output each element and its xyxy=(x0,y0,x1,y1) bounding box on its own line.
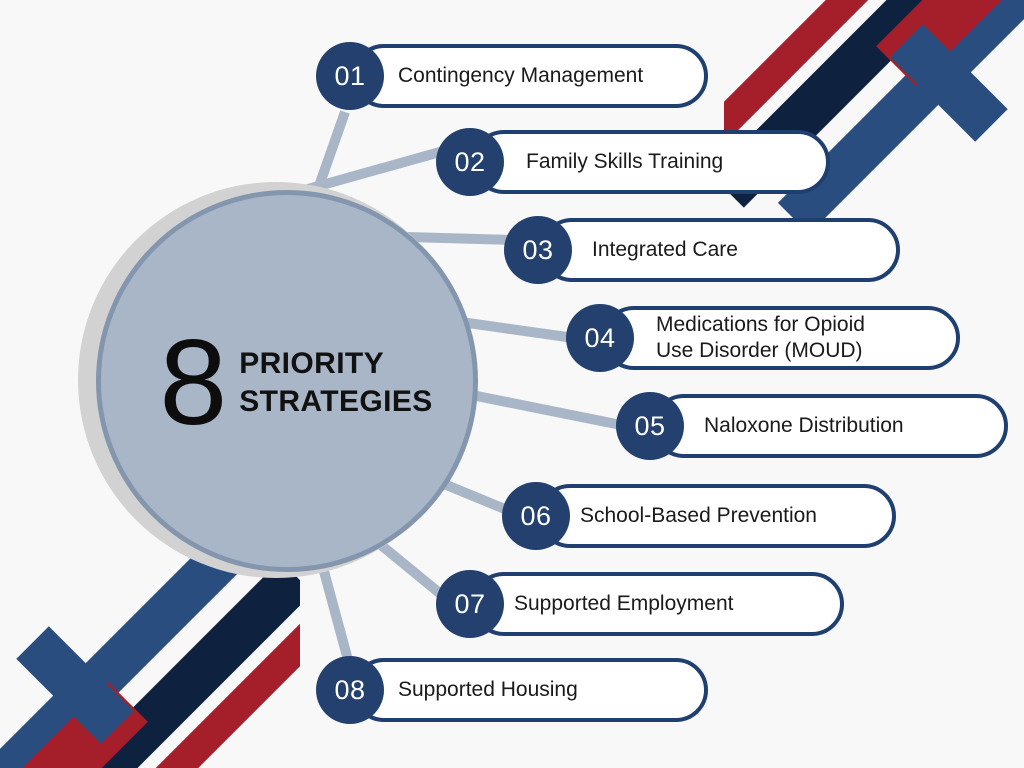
strategy-label-07: Supported Employment xyxy=(514,591,733,617)
decor-stripe-crimson-short xyxy=(876,0,1024,86)
decor-stripe-blue-mid-long xyxy=(778,0,1024,234)
strategy-label-05: Naloxone Distribution xyxy=(704,413,904,439)
decor-stripe-crimson-long xyxy=(75,566,300,768)
strategy-number-badge-04[interactable]: 04 xyxy=(566,304,634,372)
decor-stripe-blue-mid-block xyxy=(16,626,133,743)
hub-circle: 8 PRIORITY STRATEGIES xyxy=(96,190,478,572)
strategy-item-03[interactable]: Integrated Care03 xyxy=(504,216,900,284)
hub-title: PRIORITY STRATEGIES xyxy=(239,345,432,420)
strategy-item-02[interactable]: Family Skills Training02 xyxy=(436,128,830,196)
strategy-pill-02[interactable]: Family Skills Training xyxy=(472,130,830,194)
strategy-label-06: School-Based Prevention xyxy=(580,503,817,529)
strategy-pill-04[interactable]: Medications for Opioid Use Disorder (MOU… xyxy=(602,306,960,370)
strategy-item-04[interactable]: Medications for Opioid Use Disorder (MOU… xyxy=(566,304,960,372)
strategy-item-06[interactable]: School-Based Prevention06 xyxy=(502,482,896,550)
strategy-label-01: Contingency Management xyxy=(398,63,643,89)
strategy-number-badge-02[interactable]: 02 xyxy=(436,128,504,196)
strategy-pill-05[interactable]: Naloxone Distribution xyxy=(652,394,1008,458)
strategy-pill-07[interactable]: Supported Employment xyxy=(472,572,844,636)
strategy-label-08: Supported Housing xyxy=(398,677,578,703)
strategy-number-badge-01[interactable]: 01 xyxy=(316,42,384,110)
strategy-number-badge-05[interactable]: 05 xyxy=(616,392,684,460)
strategy-number-badge-08[interactable]: 08 xyxy=(316,656,384,724)
strategy-item-07[interactable]: Supported Employment07 xyxy=(436,570,844,638)
strategy-number-text: 07 xyxy=(454,589,485,620)
decor-stripe-blue-mid-long xyxy=(0,534,246,768)
strategy-number-text: 08 xyxy=(334,675,365,706)
strategy-number-text: 02 xyxy=(454,147,485,178)
strategy-item-05[interactable]: Naloxone Distribution05 xyxy=(616,392,1008,460)
strategy-label-04: Medications for Opioid Use Disorder (MOU… xyxy=(656,312,865,363)
strategy-pill-08[interactable]: Supported Housing xyxy=(352,658,708,722)
strategy-item-01[interactable]: Contingency Management01 xyxy=(316,42,708,110)
strategy-number-badge-03[interactable]: 03 xyxy=(504,216,572,284)
decor-stripe-navy-dark-long xyxy=(0,560,300,768)
strategy-number-text: 06 xyxy=(520,501,551,532)
strategy-number-text: 05 xyxy=(634,411,665,442)
hub-content: 8 PRIORITY STRATEGIES xyxy=(159,329,432,436)
strategy-pill-06[interactable]: School-Based Prevention xyxy=(538,484,896,548)
strategy-number-text: 03 xyxy=(522,235,553,266)
infographic-canvas: 8 PRIORITY STRATEGIES Contingency Manage… xyxy=(0,0,1024,768)
strategy-number-badge-06[interactable]: 06 xyxy=(502,482,570,550)
strategy-label-02: Family Skills Training xyxy=(526,149,723,175)
strategy-label-03: Integrated Care xyxy=(592,237,738,263)
decor-stripe-crimson-short xyxy=(0,682,148,768)
strategy-pill-01[interactable]: Contingency Management xyxy=(352,44,708,108)
strategy-item-08[interactable]: Supported Housing08 xyxy=(316,656,708,724)
strategy-pill-03[interactable]: Integrated Care xyxy=(540,218,900,282)
strategy-number-text: 01 xyxy=(334,61,365,92)
strategy-number-badge-07[interactable]: 07 xyxy=(436,570,504,638)
hub-number: 8 xyxy=(159,329,225,436)
strategy-number-text: 04 xyxy=(584,323,615,354)
decor-stripe-blue-mid-block xyxy=(890,24,1007,141)
